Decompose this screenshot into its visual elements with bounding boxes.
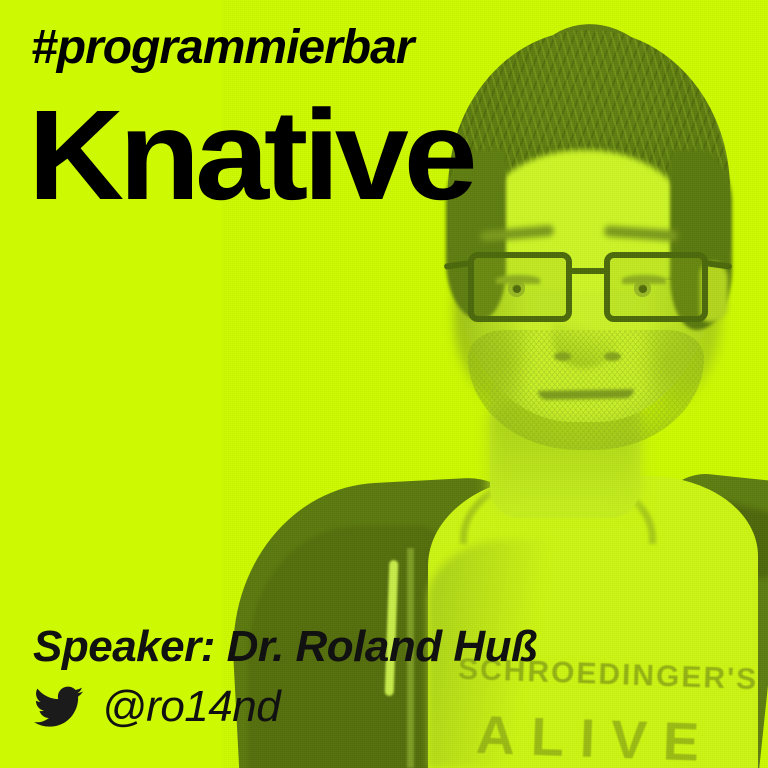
eyeglasses (458, 246, 718, 332)
twitter-bird-icon (30, 682, 88, 732)
speaker-name: Speaker: Dr. Roland Huß (33, 625, 537, 669)
glasses-left-lens (468, 252, 572, 322)
glasses-bridge (570, 268, 606, 274)
podcast-hashtag: #programmierbar (31, 24, 413, 72)
twitter-handle-row: @ro14nd (30, 682, 280, 732)
episode-title: Knative (28, 92, 472, 220)
twitter-handle-text: @ro14nd (102, 685, 280, 729)
mouth (538, 389, 634, 400)
glasses-right-lens (604, 252, 708, 322)
podcast-episode-cover: SCHROEDINGER'S CAT IS ALIVE (0, 0, 768, 768)
